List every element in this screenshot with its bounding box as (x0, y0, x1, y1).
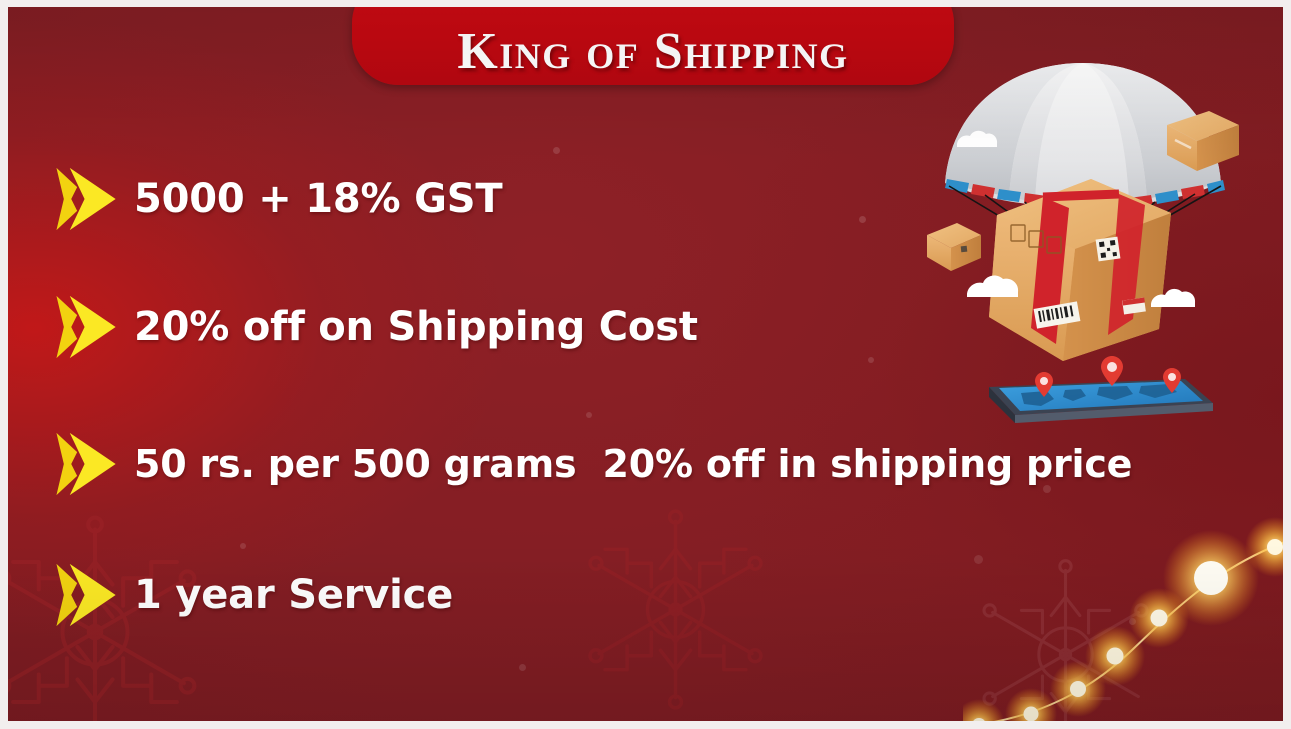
double-chevron-arrow-icon (52, 427, 126, 501)
double-chevron-arrow-icon (52, 290, 126, 364)
list-item: 5000 + 18% GST (52, 162, 503, 236)
banner-artboard: King of Shipping 5000 + 18% GST 20% off … (8, 7, 1283, 721)
list-item-label: 20% off on Shipping Cost (134, 307, 698, 347)
promotional-banner: King of Shipping 5000 + 18% GST 20% off … (0, 0, 1291, 729)
double-chevron-arrow-icon (52, 162, 126, 236)
parachute-delivery-illustration (923, 47, 1253, 427)
cardboard-box-icon (989, 179, 1171, 361)
list-item: 20% off on Shipping Cost (52, 290, 698, 364)
list-item-label: 1 year Service (134, 575, 453, 615)
list-item-label: 50 rs. per 500 grams 20% off in shipping… (134, 445, 1132, 483)
tablet-world-map-icon (989, 356, 1213, 423)
map-pin-icon (1101, 356, 1123, 386)
list-item: 1 year Service (52, 558, 453, 632)
cardboard-box-icon (927, 223, 981, 271)
double-chevron-arrow-icon (52, 558, 126, 632)
list-item-label: 5000 + 18% GST (134, 179, 503, 219)
list-item: 50 rs. per 500 grams 20% off in shipping… (52, 427, 1132, 501)
string-lights-icon (963, 501, 1283, 721)
